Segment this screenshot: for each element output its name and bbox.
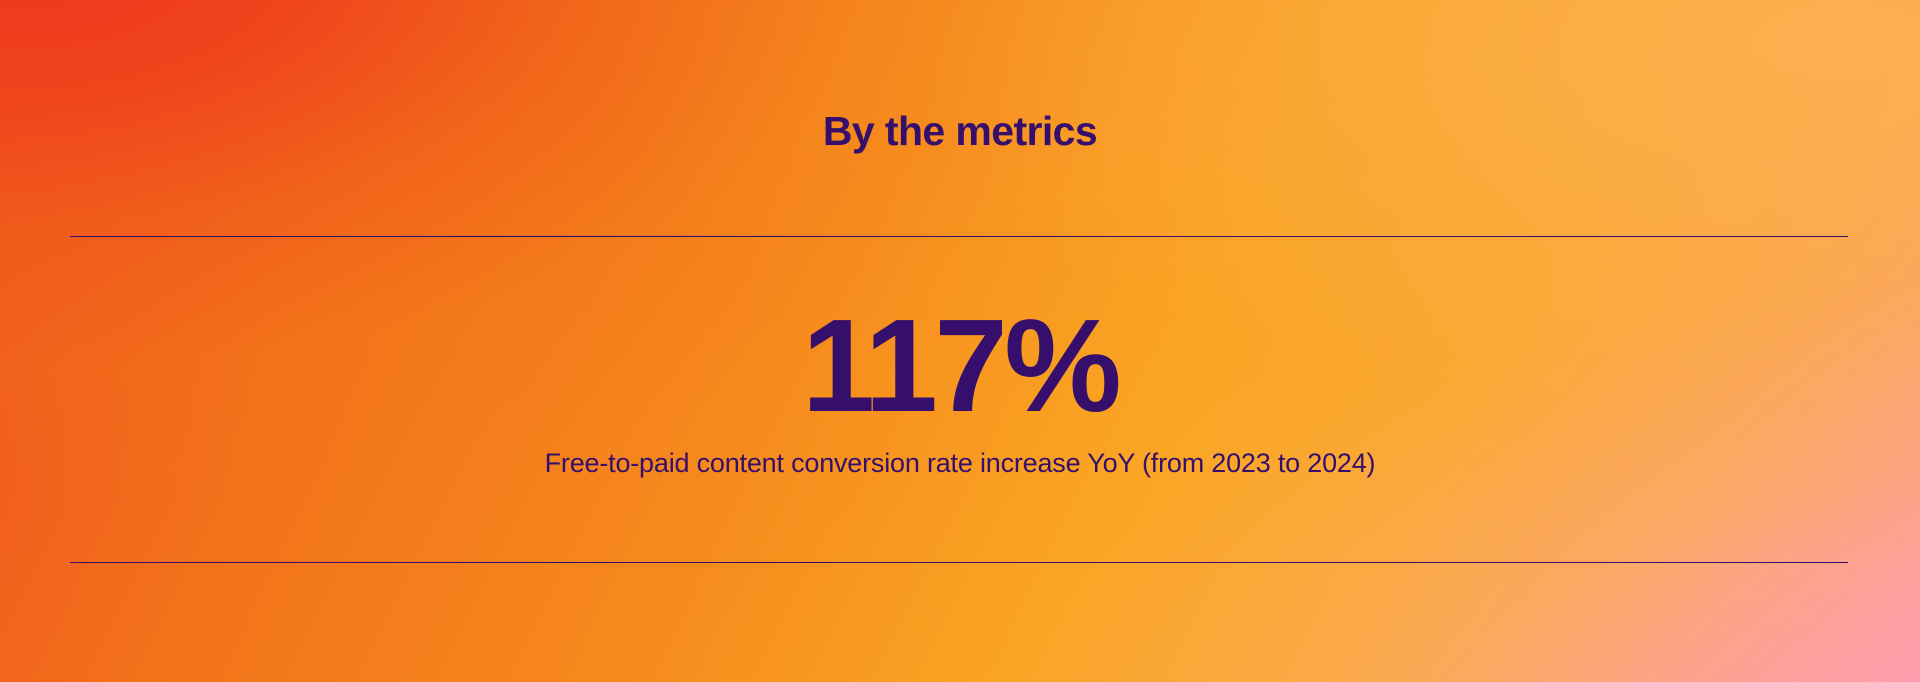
stat-callout: 117% Free-to-paid content conversion rat… — [0, 300, 1920, 480]
by-the-metrics-banner: By the metrics 117% Free-to-paid content… — [0, 0, 1920, 682]
banner-header: By the metrics — [0, 108, 1920, 154]
divider-bottom — [70, 562, 1848, 563]
page-title: By the metrics — [823, 108, 1097, 154]
stat-caption: Free-to-paid content conversion rate inc… — [0, 446, 1920, 480]
divider-top — [70, 236, 1848, 237]
stat-value: 117% — [0, 300, 1920, 432]
